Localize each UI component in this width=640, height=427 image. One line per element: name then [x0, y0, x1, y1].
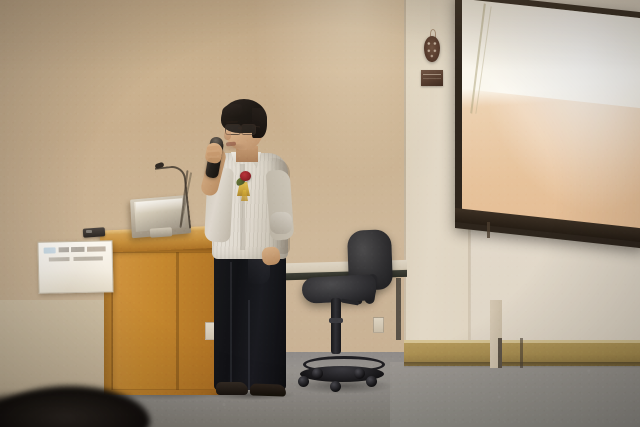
- presentation-photo: [0, 0, 640, 427]
- right-shoe: [250, 383, 286, 396]
- hand-in-pocket: [261, 246, 281, 266]
- trouser-crease: [230, 262, 232, 382]
- eyeglasses-bridge: [238, 127, 242, 129]
- finger: [208, 158, 220, 162]
- sleeve-fold: [270, 212, 292, 234]
- left-shoe: [216, 382, 248, 395]
- hair-fringe: [222, 104, 242, 118]
- corsage-flower: [240, 171, 251, 181]
- nose: [224, 131, 231, 140]
- trouser-inseam: [248, 300, 250, 390]
- presenter-at-podium: [0, 0, 640, 427]
- chin-shading: [225, 144, 247, 152]
